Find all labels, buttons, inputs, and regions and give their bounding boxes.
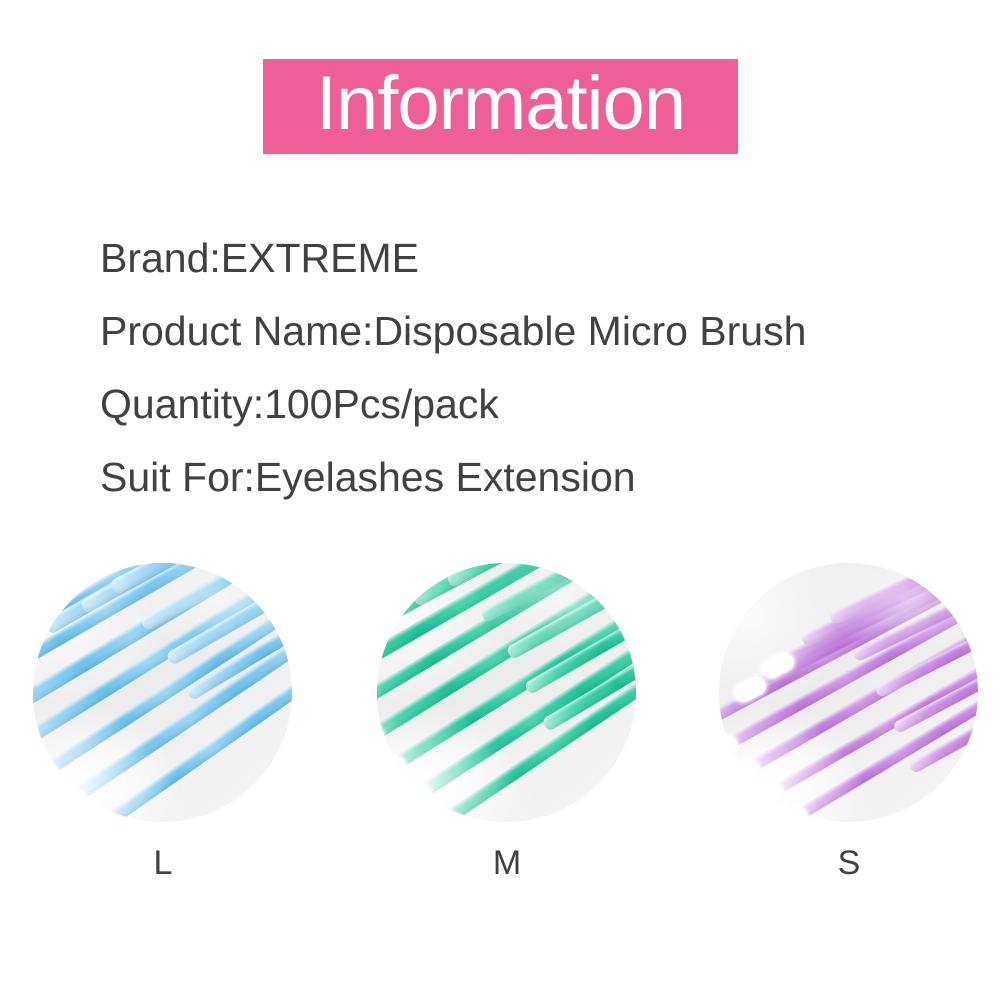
product-spec-list: Brand:EXTREME Product Name:Disposable Mi…	[100, 222, 930, 514]
page-title: Information	[316, 66, 685, 142]
size-label-l: L	[33, 844, 293, 882]
product-gallery: L M S	[0, 563, 1000, 893]
brush-sticks-illustration	[719, 563, 978, 822]
product-photo-green-micro-brushes	[377, 563, 636, 822]
product-photo-purple-micro-brushes	[719, 563, 978, 822]
product-item-size-m[interactable]: M	[377, 563, 637, 882]
product-photo-blue-micro-brushes	[33, 563, 292, 822]
spec-line-suit-for: Suit For:Eyelashes Extension	[100, 441, 930, 514]
spec-line-product-name: Product Name:Disposable Micro Brush	[100, 295, 930, 368]
size-label-s: S	[719, 844, 979, 882]
micro-brush-stick	[409, 642, 636, 804]
brush-sticks-illustration	[33, 563, 292, 822]
brush-sticks-illustration	[377, 563, 636, 822]
spec-line-brand: Brand:EXTREME	[100, 222, 930, 295]
spec-line-quantity: Quantity:100Pcs/pack	[100, 368, 930, 441]
information-header-banner: Information	[263, 59, 738, 154]
product-item-size-s[interactable]: S	[719, 563, 979, 882]
product-item-size-l[interactable]: L	[33, 563, 293, 882]
size-label-m: M	[377, 844, 637, 882]
